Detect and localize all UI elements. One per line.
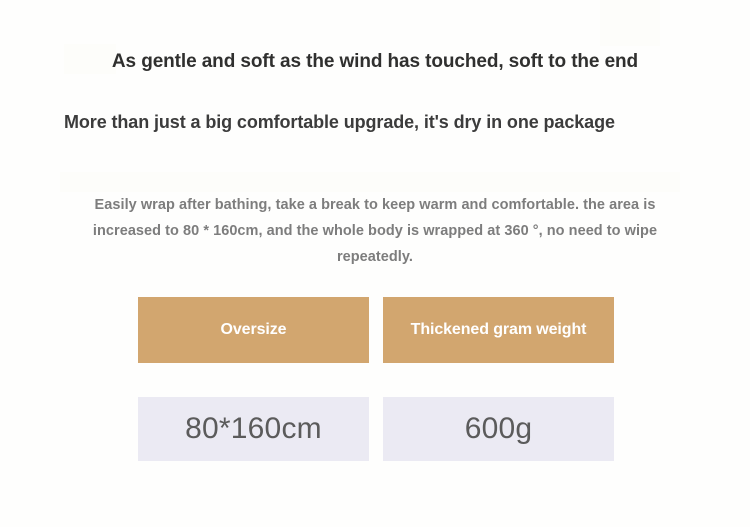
spec-label-oversize: Oversize (138, 297, 369, 363)
body-copy-paragraph: Easily wrap after bathing, take a break … (63, 192, 687, 270)
product-detail-banner: As gentle and soft as the wind has touch… (0, 0, 750, 527)
spec-label-row: Oversize Thickened gram weight (138, 297, 614, 363)
spec-comparison-grid: Oversize Thickened gram weight 80*160cm … (138, 297, 614, 461)
background-wash-right (600, 0, 660, 46)
spec-value-dimensions: 80*160cm (138, 397, 369, 461)
headline-secondary: More than just a big comfortable upgrade… (64, 112, 704, 133)
background-wash-band (60, 172, 680, 192)
headline-primary: As gentle and soft as the wind has touch… (0, 51, 750, 73)
spec-label-thickened-gram-weight: Thickened gram weight (383, 297, 614, 363)
spec-value-row: 80*160cm 600g (138, 397, 614, 461)
spec-value-weight: 600g (383, 397, 614, 461)
